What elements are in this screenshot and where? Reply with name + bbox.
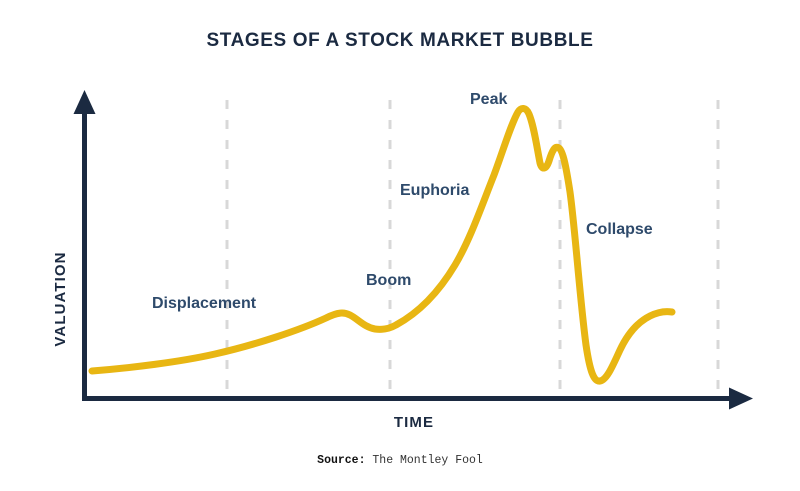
stage-label-collapse: Collapse <box>586 221 653 238</box>
stage-label-peak: Peak <box>470 91 507 108</box>
stage-label-euphoria: Euphoria <box>400 182 469 199</box>
stage-divider-group <box>227 100 718 391</box>
y-axis-title: VALUATION <box>52 251 69 346</box>
chart-container: STAGES OF A STOCK MARKET BUBBLE VALUATIO… <box>0 0 800 491</box>
y-axis-arrowhead <box>74 90 96 114</box>
x-axis <box>82 388 753 410</box>
stage-label-displacement: Displacement <box>152 295 257 312</box>
y-axis <box>74 90 96 398</box>
bubble-curve <box>92 108 672 381</box>
x-axis-title: TIME <box>394 414 434 431</box>
x-axis-arrowhead <box>729 388 753 410</box>
source-caption: Source: The Montley Fool <box>0 454 800 467</box>
source-label: Source: <box>317 454 365 467</box>
source-value: The Montley Fool <box>365 454 482 467</box>
stage-label-boom: Boom <box>366 272 411 289</box>
chart-plot-area: VALUATION TIME Displacement Boom Euphori… <box>0 0 800 491</box>
